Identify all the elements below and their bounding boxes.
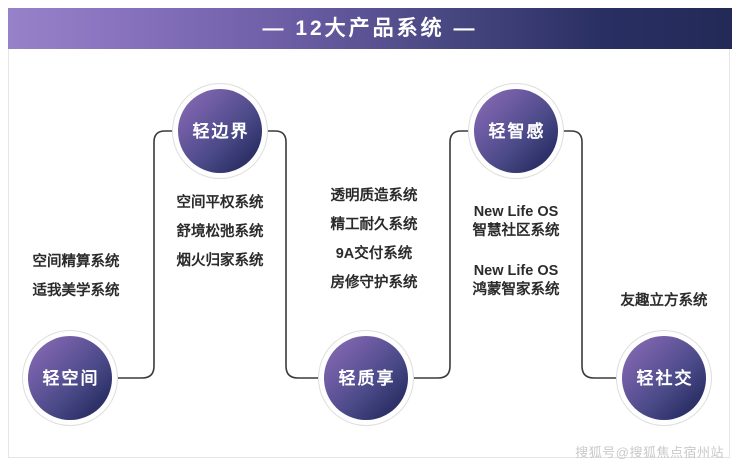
node-qing-zhi-xiang[interactable]: 轻质享 [324, 336, 408, 420]
item-line: 9A交付系统 [310, 247, 438, 263]
node-label: 轻社交 [635, 370, 694, 387]
page-title: — 12大产品系统 — [262, 18, 477, 39]
node-label: 轻智感 [487, 123, 546, 140]
list-item: 空间平权系统 [156, 196, 284, 212]
item-line: 智慧社区系统 [452, 222, 580, 241]
list-item: 舒境松弛系统 [156, 225, 284, 241]
item-line: 空间精算系统 [0, 255, 152, 271]
item-line: 透明质造系统 [310, 189, 438, 205]
node-qing-kong-jian[interactable]: 轻空间 [28, 336, 112, 420]
node-qing-she-jiao[interactable]: 轻社交 [622, 336, 706, 420]
list-item: 友趣立方系统 [600, 294, 728, 310]
list-item: 空间精算系统 [0, 255, 152, 271]
item-line: 舒境松弛系统 [156, 225, 284, 241]
items-qing-kong-jian: 空间精算系统 适我美学系统 [0, 255, 152, 300]
items-qing-bian-jie: 空间平权系统 舒境松弛系统 烟火归家系统 [156, 196, 284, 270]
item-line: 适我美学系统 [0, 284, 152, 300]
item-line: New Life OS [452, 262, 580, 281]
items-qing-she-jiao: 友趣立方系统 [600, 294, 728, 310]
list-item: 适我美学系统 [0, 284, 152, 300]
list-item: 精工耐久系统 [310, 218, 438, 234]
item-line: New Life OS [452, 203, 580, 222]
item-line: 友趣立方系统 [600, 294, 728, 310]
node-label: 轻质享 [337, 370, 396, 387]
node-qing-bian-jie[interactable]: 轻边界 [178, 89, 262, 173]
list-item: 房修守护系统 [310, 276, 438, 292]
item-line: 空间平权系统 [156, 196, 284, 212]
item-line: 精工耐久系统 [310, 218, 438, 234]
infographic-canvas: — 12大产品系统 — 轻边界 轻智感 轻空间 轻质享 轻社交 空间精算系统 [0, 0, 740, 467]
watermark: 搜狐号@搜狐焦点宿州站 [575, 442, 724, 461]
list-item: 9A交付系统 [310, 247, 438, 263]
items-qing-zhi-xiang: 透明质造系统 精工耐久系统 9A交付系统 房修守护系统 [310, 189, 438, 292]
list-item: 烟火归家系统 [156, 254, 284, 270]
header-bar: — 12大产品系统 — [8, 8, 732, 49]
item-line: 鸿蒙智家系统 [452, 281, 580, 300]
list-item: New Life OS 智慧社区系统 [452, 203, 580, 240]
node-label: 轻边界 [191, 123, 250, 140]
item-line: 烟火归家系统 [156, 254, 284, 270]
items-qing-zhi-gan: New Life OS 智慧社区系统 New Life OS 鸿蒙智家系统 [452, 203, 580, 299]
list-item: New Life OS 鸿蒙智家系统 [452, 262, 580, 299]
list-item: 透明质造系统 [310, 189, 438, 205]
node-label: 轻空间 [41, 370, 100, 387]
node-qing-zhi-gan[interactable]: 轻智感 [474, 89, 558, 173]
item-line: 房修守护系统 [310, 276, 438, 292]
